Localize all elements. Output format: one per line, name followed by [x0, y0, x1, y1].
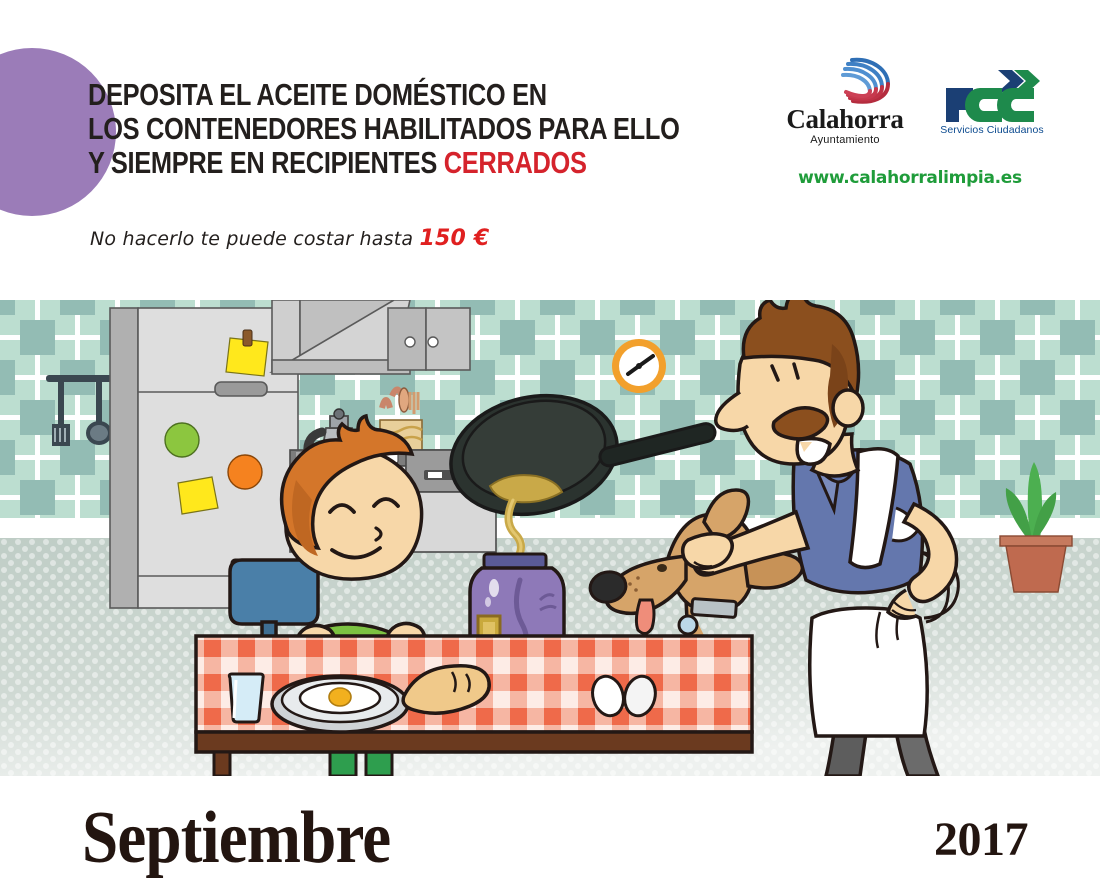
- apron-icon: [810, 608, 927, 736]
- headline-line-2: LOS CONTENEDORES HABILITADOS PARA ELLO: [88, 112, 613, 146]
- green-magnet-icon: [165, 423, 199, 457]
- headline-emphasis: CERRADOS: [444, 145, 587, 180]
- calahorra-logo: Calahorra Ayuntamiento: [770, 52, 920, 152]
- glass-icon: [229, 674, 263, 722]
- headline-line-3-text: Y SIEMPRE EN RECIPIENTES: [88, 145, 444, 180]
- calahorra-subtitle: Ayuntamiento: [770, 134, 920, 146]
- website-url[interactable]: www.calahorralimpia.es: [760, 168, 1060, 188]
- plate-with-egg-icon: [272, 676, 408, 732]
- dog-collar-icon: [691, 598, 736, 617]
- headline-line-1: DEPOSITA EL ACEITE DOMÉSTICO EN: [88, 78, 613, 112]
- subline-amount: 150 €: [419, 226, 489, 251]
- orange-magnet-icon: [228, 455, 262, 489]
- kitchen-scene-svg: [0, 300, 1100, 776]
- calendar-poster: DEPOSITA EL ACEITE DOMÉSTICO EN LOS CONT…: [0, 0, 1100, 896]
- sticky-note-icon: [178, 477, 218, 514]
- page-title: DEPOSITA EL ACEITE DOMÉSTICO EN LOS CONT…: [88, 78, 613, 180]
- jar-lid-icon: [484, 554, 546, 568]
- fcc-logo: Servicios Ciudadanos: [932, 68, 1052, 150]
- calahorra-wordmark: Calahorra: [770, 104, 920, 135]
- fcc-subtitle: Servicios Ciudadanos: [932, 124, 1052, 136]
- egg-yolk-icon: [329, 688, 351, 706]
- kitchen-illustration: [0, 300, 1100, 776]
- dog-tongue-icon: [636, 600, 654, 634]
- ear-icon: [833, 390, 863, 426]
- subline-text: No hacerlo te puede costar hasta: [90, 228, 419, 250]
- headline-line-3: Y SIEMPRE EN RECIPIENTES CERRADOS: [88, 146, 613, 180]
- upper-cabinet-icon: [388, 308, 470, 370]
- wall-clock-icon: [612, 339, 666, 393]
- dog-tag-icon: [679, 616, 697, 634]
- fine-subtitle: No hacerlo te puede costar hasta 150 €: [90, 226, 489, 251]
- fcc-mark-icon: [940, 68, 1050, 126]
- month-label: Septiembre: [82, 796, 390, 881]
- year-label: 2017: [934, 812, 1028, 867]
- calahorra-swirl-icon: [838, 54, 896, 106]
